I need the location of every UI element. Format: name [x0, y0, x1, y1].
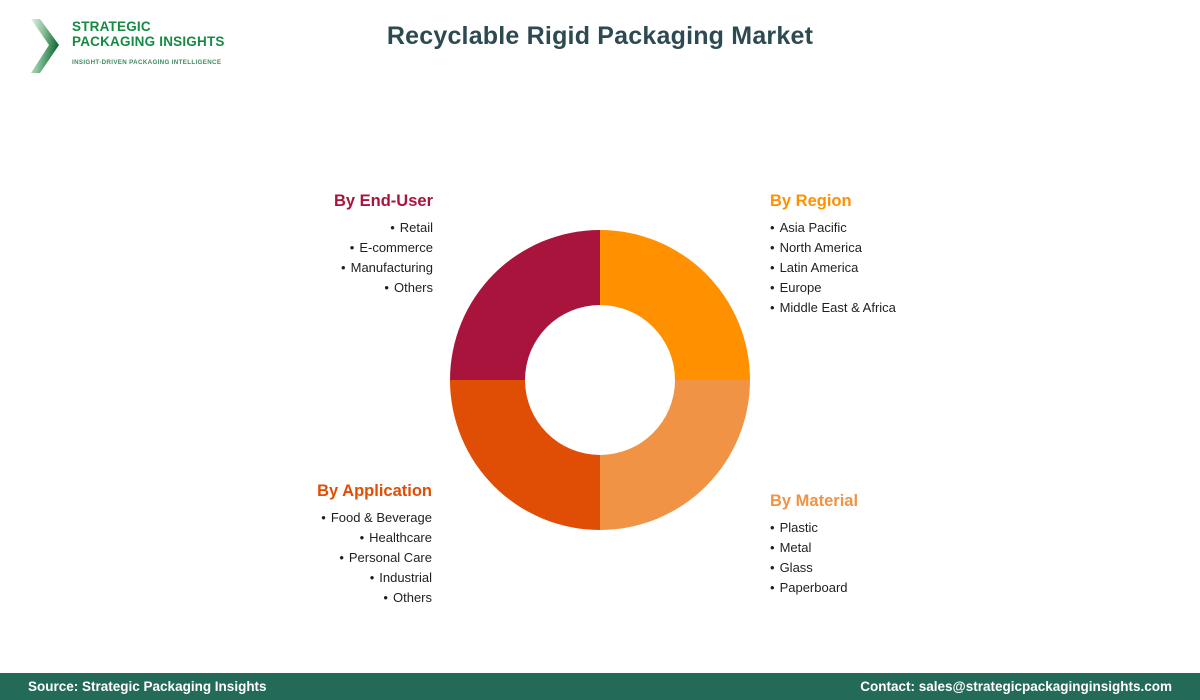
footer-bar: Source: Strategic Packaging Insights Con… — [0, 673, 1200, 700]
segment-end-user-list: Retail E-commerce Manufacturing Others — [180, 218, 433, 298]
segment-application: By Application Food & Beverage Healthcar… — [170, 482, 432, 608]
list-item: Healthcare — [170, 528, 432, 548]
list-item: Paperboard — [770, 578, 1070, 598]
list-item: Others — [180, 278, 433, 298]
segment-material-title: By Material — [770, 492, 1070, 511]
segment-application-title: By Application — [170, 482, 432, 501]
donut-center-hole — [525, 305, 675, 455]
segment-region: By Region Asia Pacific North America Lat… — [770, 192, 1070, 318]
segment-end-user: By End-User Retail E-commerce Manufactur… — [180, 192, 433, 298]
brand-tagline: INSIGHT-DRIVEN PACKAGING INTELLIGENCE — [72, 59, 227, 66]
donut-chart — [450, 230, 750, 530]
list-item: Europe — [770, 278, 1070, 298]
segment-region-list: Asia Pacific North America Latin America… — [770, 218, 1070, 318]
list-item: North America — [770, 238, 1070, 258]
list-item: Manufacturing — [180, 258, 433, 278]
segment-material: By Material Plastic Metal Glass Paperboa… — [770, 492, 1070, 598]
list-item: Middle East & Africa — [770, 298, 1070, 318]
footer-source: Source: Strategic Packaging Insights — [28, 679, 267, 694]
list-item: Glass — [770, 558, 1070, 578]
segment-end-user-title: By End-User — [180, 192, 433, 211]
list-item: Industrial — [170, 568, 432, 588]
list-item: Food & Beverage — [170, 508, 432, 528]
footer-contact[interactable]: Contact: sales@strategicpackaginginsight… — [860, 679, 1172, 694]
segment-application-list: Food & Beverage Healthcare Personal Care… — [170, 508, 432, 608]
list-item: Others — [170, 588, 432, 608]
list-item: Latin America — [770, 258, 1070, 278]
list-item: Asia Pacific — [770, 218, 1070, 238]
segment-material-list: Plastic Metal Glass Paperboard — [770, 518, 1070, 598]
list-item: Plastic — [770, 518, 1070, 538]
list-item: Personal Care — [170, 548, 432, 568]
segment-region-title: By Region — [770, 192, 1070, 211]
list-item: Retail — [180, 218, 433, 238]
page-title: Recyclable Rigid Packaging Market — [0, 22, 1200, 51]
list-item: E-commerce — [180, 238, 433, 258]
donut-chart-svg — [450, 230, 750, 530]
list-item: Metal — [770, 538, 1070, 558]
